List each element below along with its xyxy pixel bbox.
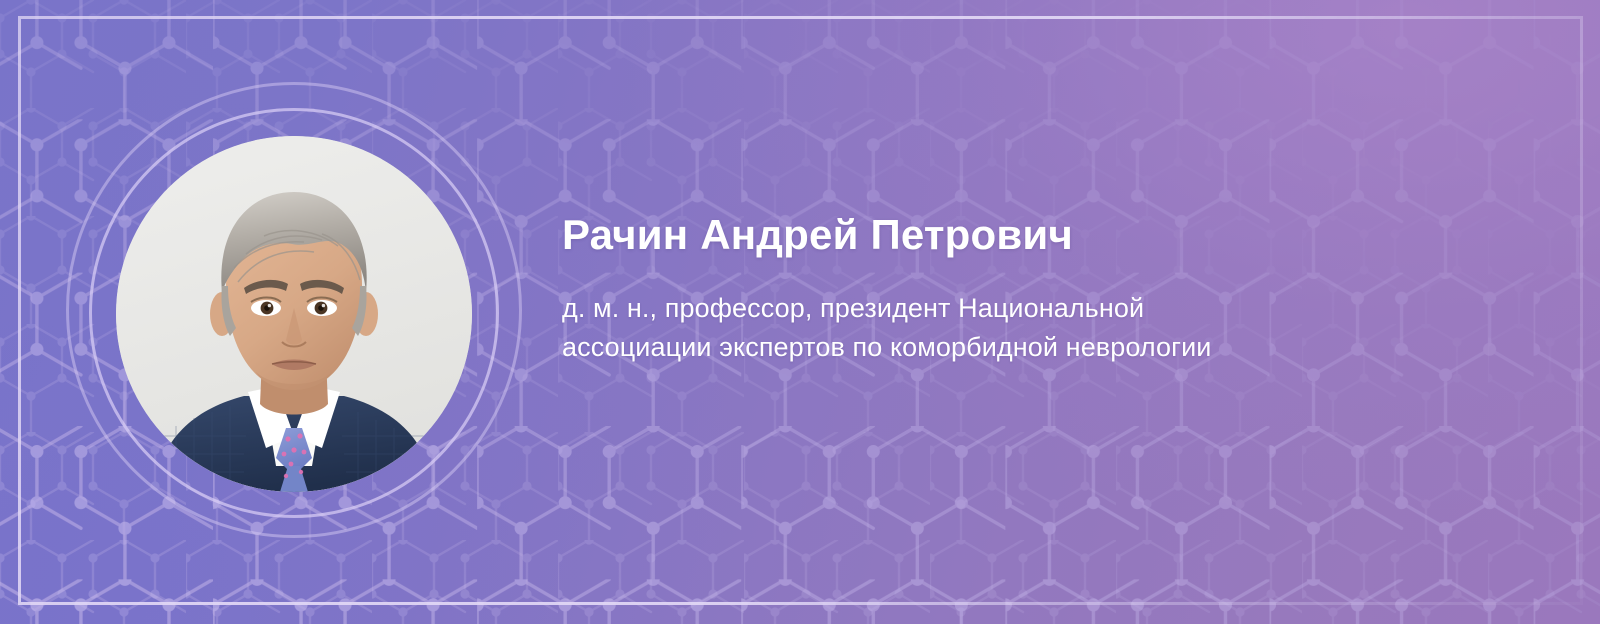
portrait-block: [116, 136, 472, 492]
credentials-line-2: ассоциации экспертов по коморбидной невр…: [562, 328, 1522, 367]
credentials-line-1: д. м. н., профессор, президент Националь…: [562, 289, 1522, 328]
speaker-credentials: д. м. н., профессор, президент Националь…: [562, 257, 1522, 367]
page-title: Рачин Андрей Петрович: [562, 212, 1522, 257]
speaker-banner: Рачин Андрей Петрович д. м. н., профессо…: [0, 0, 1600, 624]
speaker-text-column: Рачин Андрей Петрович д. м. н., профессо…: [562, 212, 1522, 367]
avatar: [116, 136, 472, 492]
